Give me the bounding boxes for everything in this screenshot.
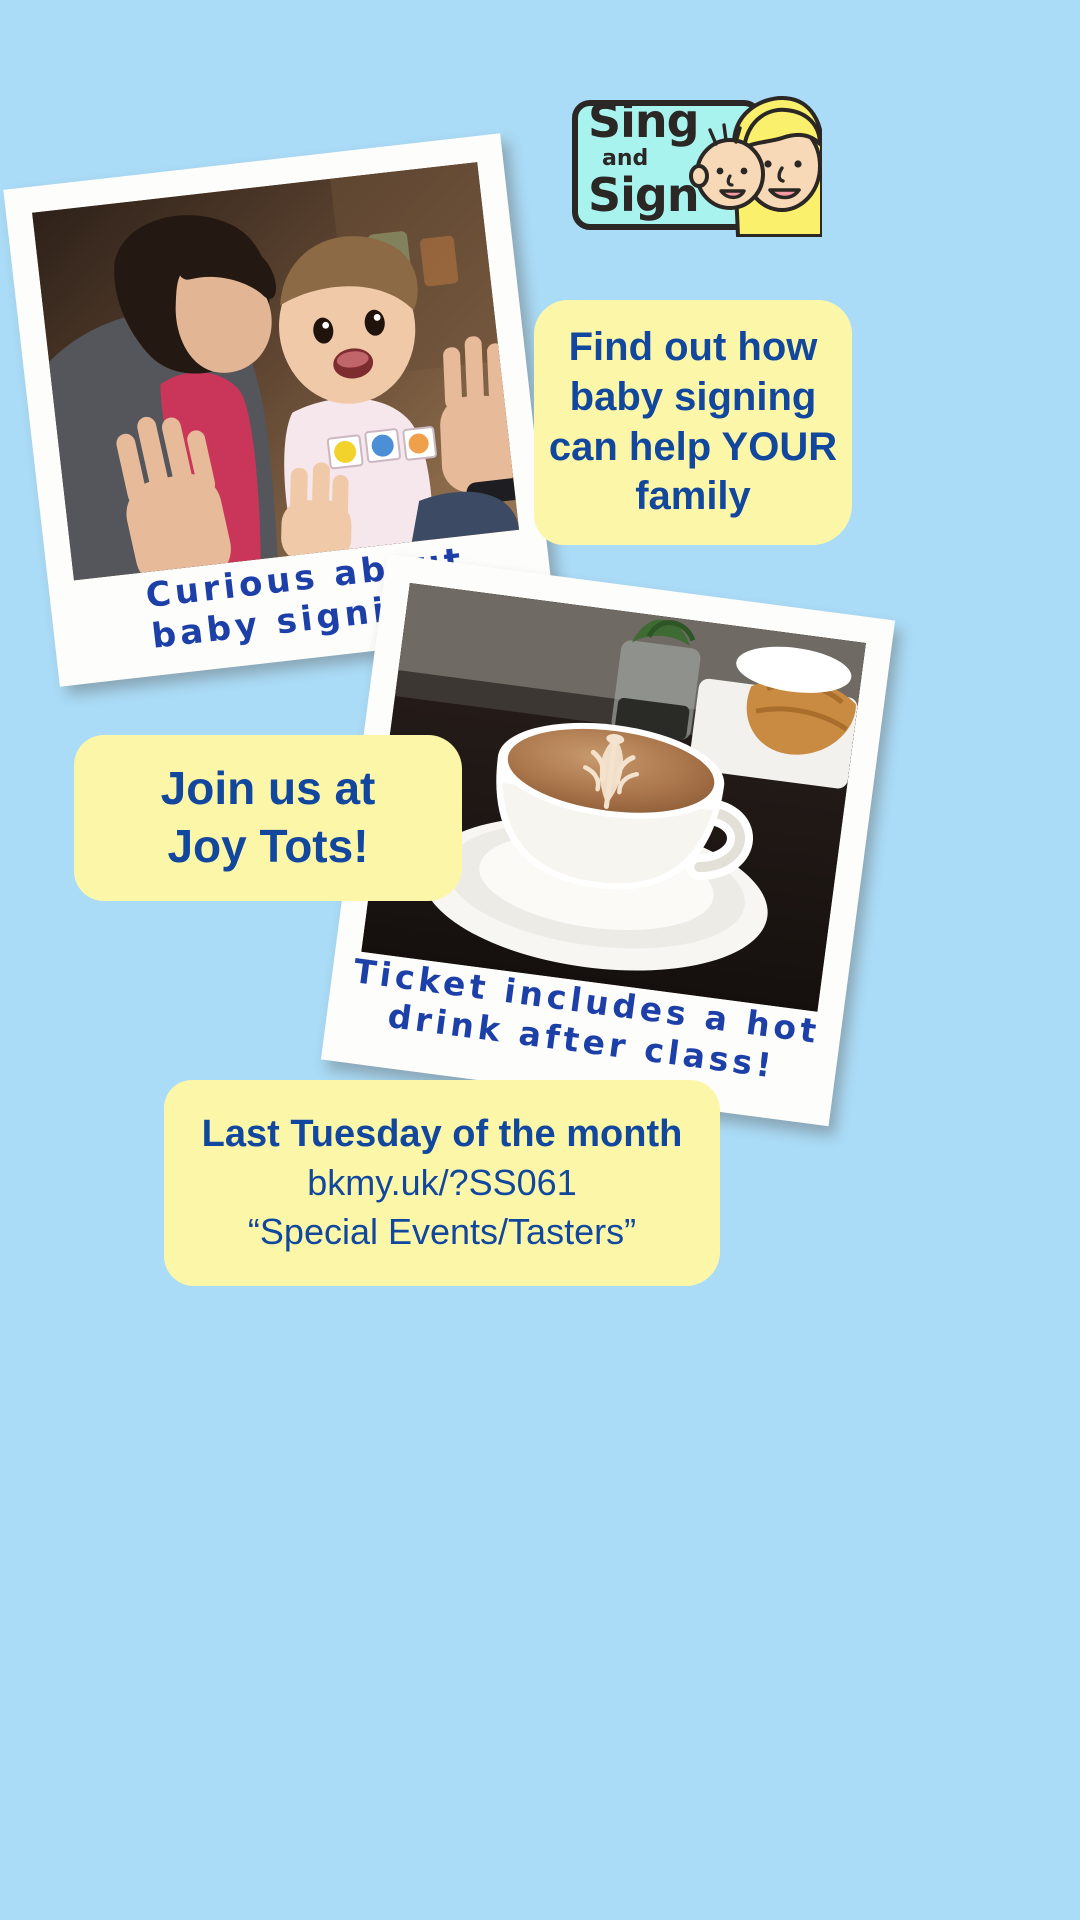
join-us-line-1: Join us at bbox=[161, 760, 376, 818]
callout-join-us: Join us at Joy Tots! bbox=[74, 735, 462, 901]
callout-booking-info: Last Tuesday of the month bkmy.uk/?SS061… bbox=[164, 1080, 720, 1286]
find-out-line-2: baby signing bbox=[570, 373, 817, 423]
booking-url[interactable]: bkmy.uk/?SS061 bbox=[307, 1159, 576, 1208]
find-out-line-3: can help YOUR bbox=[549, 423, 837, 473]
poster-canvas: Sing and Sign bbox=[0, 0, 1080, 1920]
logo-faces-illustration bbox=[682, 92, 822, 237]
booking-category: “Special Events/Tasters” bbox=[248, 1208, 636, 1257]
sing-and-sign-logo[interactable]: Sing and Sign bbox=[572, 92, 822, 237]
find-out-line-4: family bbox=[635, 472, 751, 522]
find-out-line-1: Find out how bbox=[569, 323, 818, 373]
event-schedule-text: Last Tuesday of the month bbox=[202, 1110, 683, 1159]
join-us-line-2: Joy Tots! bbox=[167, 818, 368, 876]
callout-find-out-how: Find out how baby signing can help YOUR … bbox=[534, 300, 852, 545]
photo-baby-signing-art bbox=[32, 162, 519, 580]
logo-text-and: and bbox=[602, 148, 648, 170]
photo-baby-signing bbox=[32, 162, 519, 580]
